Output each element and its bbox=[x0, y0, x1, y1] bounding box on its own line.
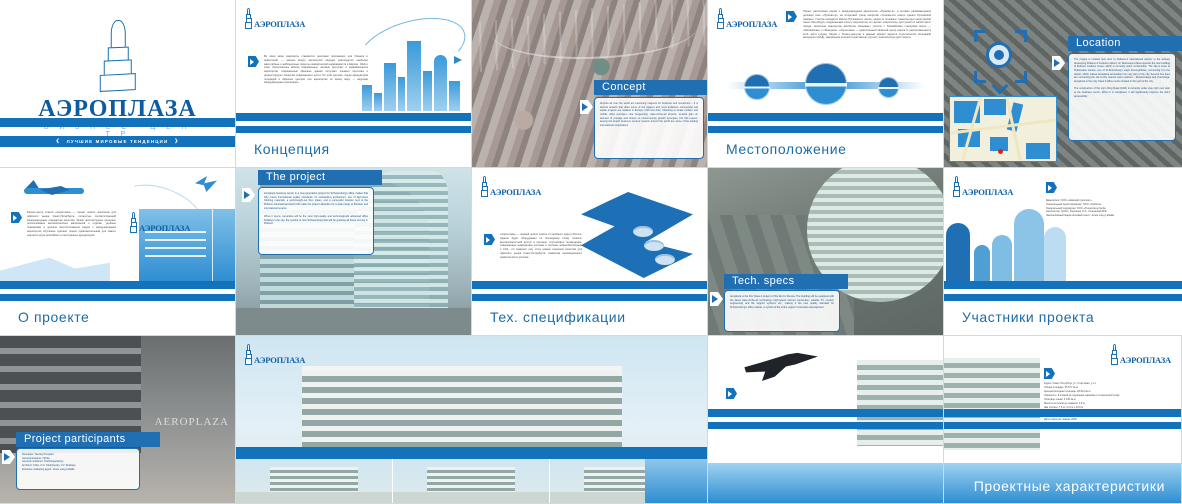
slide-title: Тех. спецификации bbox=[490, 309, 626, 325]
footer-bars bbox=[236, 113, 471, 167]
chevron-right-icon: ❯ bbox=[174, 139, 179, 143]
slide-title: Местоположение bbox=[726, 141, 847, 157]
overlay-text-box: The project is located next door to Pulk… bbox=[1068, 53, 1176, 141]
circle-small-right bbox=[878, 77, 899, 98]
slide-location-en[interactable]: Location The project is located next doo… bbox=[944, 0, 1182, 168]
overlay-title: Location bbox=[1068, 36, 1182, 51]
brand-wordmark: АЭРОПЛАЗА bbox=[726, 19, 777, 29]
bracket-bl-icon bbox=[974, 71, 986, 83]
skyline-illustration bbox=[360, 31, 465, 111]
slide-facade-wide[interactable]: АЭРОПЛАЗА bbox=[236, 336, 708, 504]
bracket-br-icon bbox=[1015, 71, 1027, 83]
cover-bars: ❮ ЛУЧШИЕ МИРОВЫЕ ТЕНДЕНЦИИ ❯ bbox=[0, 118, 235, 152]
footer-gradient bbox=[708, 463, 943, 503]
brand-logo: АЭРОПЛАЗА bbox=[130, 212, 190, 233]
bullet-arrow-icon bbox=[1052, 56, 1065, 70]
map-target-icon bbox=[986, 42, 1012, 68]
overlay-text-para1: Aeroplaza business center is a new gener… bbox=[264, 192, 368, 210]
bullet-arrow-icon bbox=[2, 450, 15, 464]
inset-map[interactable] bbox=[949, 96, 1057, 162]
slide-project-en[interactable]: The project Aeroplaza business center is… bbox=[236, 168, 472, 336]
slide-title: Участники проекта bbox=[962, 309, 1094, 325]
footer-bar bbox=[236, 447, 707, 459]
overlay-text-para1: The project is located next door to Pulk… bbox=[1074, 58, 1170, 83]
bracket-tl-icon bbox=[974, 30, 986, 42]
brand-wordmark: АЭРОПЛАЗА bbox=[254, 19, 305, 29]
circle-small-left bbox=[744, 74, 770, 100]
tower-logo-icon bbox=[481, 176, 488, 197]
slide-body-text: Девелопер: ООО «Невский проспект» Генера… bbox=[1046, 199, 1138, 218]
overlay-text-para2: The construction of the city's Ring Road… bbox=[1074, 87, 1170, 98]
slide-techspecs-ru[interactable]: АЭРОПЛАЗА «Аэроплаза» — первый проект кл… bbox=[472, 168, 708, 336]
footer-bars bbox=[944, 281, 1182, 335]
aeroplaza-sign: AEROPLAZA bbox=[155, 416, 229, 428]
overlay-text-box: Aeroplaza is the first Class A project o… bbox=[724, 290, 840, 332]
bullet-arrow-icon bbox=[1046, 182, 1057, 193]
tower-logo-icon bbox=[99, 20, 135, 94]
bracket-tr-icon bbox=[1015, 30, 1027, 42]
brand-wordmark: АЭРОПЛАЗА bbox=[1120, 355, 1171, 365]
footer-bars bbox=[708, 113, 943, 167]
slide-about-ru[interactable]: АЭРОПЛАЗА Бизнес-центр класса «Аэроплаза… bbox=[0, 168, 236, 336]
slide-title: О проекте bbox=[18, 309, 89, 325]
slide-techspecs-en[interactable]: Tech. specs Aeroplaza is the first Class… bbox=[708, 168, 944, 336]
bullet-arrow-icon bbox=[11, 212, 22, 223]
brand-logo: АЭРОПЛАЗА bbox=[245, 8, 305, 29]
bullet-arrow-icon bbox=[1044, 368, 1055, 379]
footer-gradient: Проектные характеристики bbox=[944, 463, 1181, 503]
thumbnail-1[interactable] bbox=[236, 459, 393, 503]
slide-concept-en[interactable]: Concept Airports all over the world are … bbox=[472, 0, 708, 168]
jet-fighter-icon bbox=[195, 176, 217, 192]
slide-grid: АЭРОПЛАЗА Б И З Н Е С - Ц Е Н Т Р ❮ ЛУЧШ… bbox=[0, 0, 1182, 504]
bullet-arrow-icon bbox=[710, 292, 723, 306]
bullet-arrow-icon bbox=[484, 234, 495, 245]
circle-large-center bbox=[805, 63, 847, 105]
brand-logo: АЭРОПЛАЗА bbox=[245, 344, 305, 365]
chevron-left-icon: ❮ bbox=[56, 139, 61, 143]
brand-wordmark: АЭРОПЛАЗА bbox=[254, 355, 305, 365]
slide-body-text: Проект расположен рядом с международным … bbox=[803, 10, 931, 40]
tower-logo-icon bbox=[245, 344, 252, 365]
bullet-arrow-icon bbox=[242, 188, 255, 202]
bullet-arrow-icon bbox=[786, 11, 797, 22]
tower-logo-icon bbox=[1111, 344, 1118, 365]
slide-characteristics-en[interactable]: АЭРОПЛАЗА Адрес: Санкт-Петербург, ул. Ст… bbox=[944, 336, 1182, 504]
isometric-shape-illustration bbox=[581, 192, 693, 278]
overlay-text-box: Developer: Nevsky Prospekt General desig… bbox=[16, 448, 140, 490]
map-pin-icon bbox=[998, 149, 1003, 154]
brand-wordmark: АЭРОПЛАЗА bbox=[139, 223, 190, 233]
airplane-icon bbox=[24, 180, 86, 202]
tower-logo-icon bbox=[130, 212, 137, 233]
overlay-title: The project bbox=[258, 170, 382, 185]
thumbnail-row bbox=[236, 459, 707, 503]
wing-swoosh-decoration bbox=[0, 255, 110, 281]
location-circles bbox=[708, 62, 943, 106]
blue-panel bbox=[645, 459, 707, 503]
slide-title: Концепция bbox=[254, 141, 330, 157]
overlay-title: Concept bbox=[594, 80, 708, 95]
slide-concept-ru[interactable]: АЭРОПЛАЗА Во всем мире аэропорты становя… bbox=[236, 0, 472, 168]
footer-bars bbox=[472, 281, 707, 335]
slide-body-text: Бизнес-центр класса «Аэроплаза» — проект… bbox=[27, 211, 116, 237]
footer-bars bbox=[944, 409, 1181, 463]
brand-logo: АЭРОПЛАЗА bbox=[717, 8, 777, 29]
overlay-text-para2: When it opens, Aeroplaza will be the mos… bbox=[264, 215, 368, 226]
slide-title: Проектные характеристики bbox=[974, 478, 1165, 494]
overlay-title: Project participants bbox=[16, 432, 160, 447]
bullet-arrow-icon bbox=[248, 56, 259, 67]
footer-bars bbox=[0, 281, 235, 335]
footer-bars bbox=[708, 409, 943, 463]
tower-logo-icon bbox=[245, 8, 252, 29]
slide-location-ru[interactable]: АЭРОПЛАЗА Проект расположен рядом с межд… bbox=[708, 0, 944, 168]
slide-participants-ru[interactable]: АЭРОПЛАЗА Девелопер: ООО «Невский проспе… bbox=[944, 168, 1182, 336]
slide-body-text: Во всем мире аэропорты становятся центра… bbox=[264, 55, 368, 85]
bullet-arrow-icon bbox=[580, 100, 593, 114]
slide-characteristics-ru[interactable] bbox=[708, 336, 944, 504]
slide-body-text: «Аэроплаза» — первый проект класса А под… bbox=[500, 233, 582, 259]
thumbnail-2[interactable] bbox=[393, 459, 550, 503]
bullet-arrow-icon bbox=[726, 388, 737, 399]
overlay-text-box: Airports all over the world are becoming… bbox=[594, 97, 704, 159]
cover-tagline-banner: ❮ ЛУЧШИЕ МИРОВЫЕ ТЕНДЕНЦИИ ❯ bbox=[0, 136, 235, 147]
brand-logo: АЭРОПЛАЗА bbox=[481, 176, 541, 197]
overlay-title: Tech. specs bbox=[724, 274, 848, 289]
brand-wordmark: АЭРОПЛАЗА bbox=[490, 187, 541, 197]
tower-logo-icon bbox=[717, 8, 724, 29]
slide-participants-en[interactable]: AEROPLAZA Project participants Developer… bbox=[0, 336, 236, 504]
cover-tagline: ЛУЧШИЕ МИРОВЫЕ ТЕНДЕНЦИИ bbox=[67, 139, 169, 144]
brand-logo: АЭРОПЛАЗА bbox=[1111, 344, 1171, 365]
airplane-photo bbox=[738, 350, 818, 386]
slide-cover[interactable]: АЭРОПЛАЗА Б И З Н Е С - Ц Е Н Т Р ❮ ЛУЧШ… bbox=[0, 0, 236, 168]
overlay-text-box: Aeroplaza business center is a new gener… bbox=[258, 187, 374, 255]
